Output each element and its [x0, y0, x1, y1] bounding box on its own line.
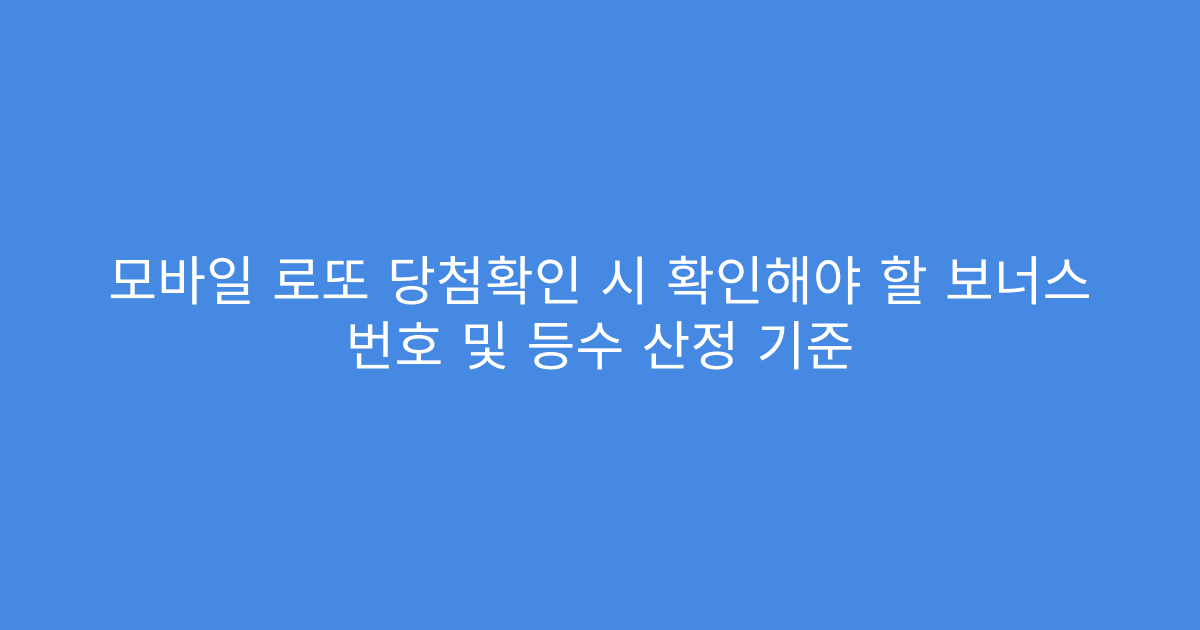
page-title: 모바일 로또 당첨확인 시 확인해야 할 보너스 번호 및 등수 산정 기준 [55, 250, 1145, 380]
title-block: 모바일 로또 당첨확인 시 확인해야 할 보너스 번호 및 등수 산정 기준 [55, 250, 1145, 380]
og-card: 모바일 로또 당첨확인 시 확인해야 할 보너스 번호 및 등수 산정 기준 [0, 0, 1200, 630]
